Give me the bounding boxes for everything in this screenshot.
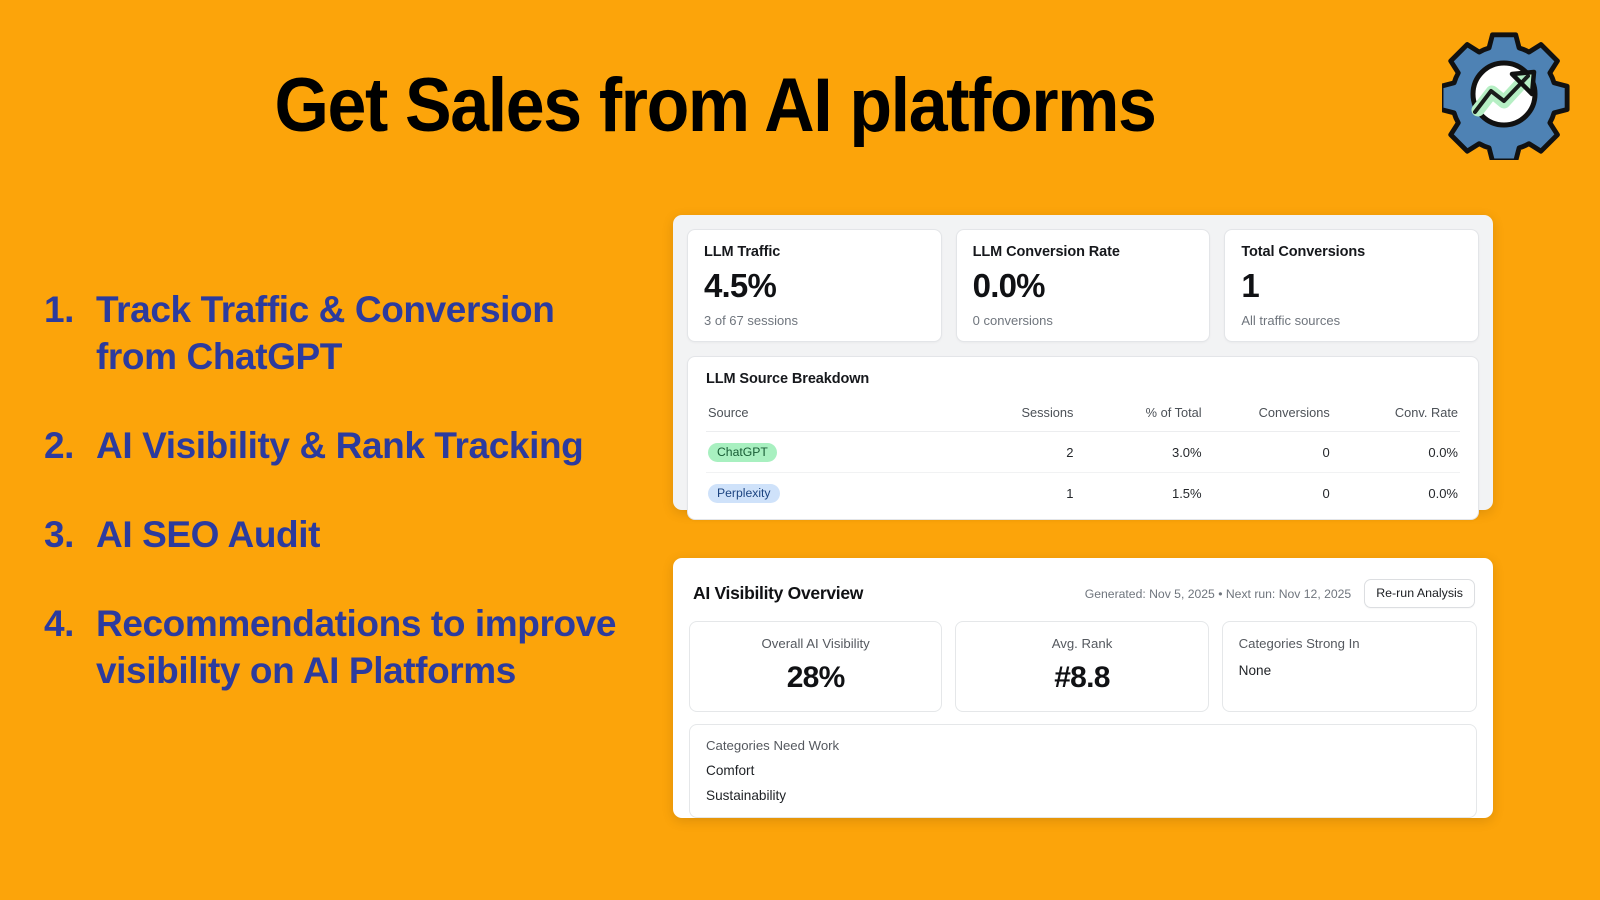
stat-card-label: LLM Conversion Rate [973,244,1194,260]
visibility-panel-header: AI Visibility Overview Generated: Nov 5,… [689,574,1477,608]
stat-card-value: 0.0% [973,267,1194,305]
visibility-card-label: Categories Strong In [1239,636,1462,651]
cell-conv-rate: 0.0% [1332,432,1460,473]
list-item-number: 1. [44,286,96,333]
llm-analytics-panel: LLM Traffic 4.5% 3 of 67 sessions LLM Co… [673,215,1493,510]
llm-source-table: Source Sessions % of Total Conversions C… [706,401,1460,513]
cell-conversions: 0 [1204,432,1332,473]
category-need-work-item: Comfort [706,763,1460,778]
visibility-card-row: Overall AI Visibility 28% Avg. Rank #8.8… [689,621,1477,712]
stat-card-llm-traffic: LLM Traffic 4.5% 3 of 67 sessions [687,229,942,342]
list-item-number: 4. [44,600,96,647]
cell-source: ChatGPT [706,432,947,473]
visibility-header-right: Generated: Nov 5, 2025 • Next run: Nov 1… [1085,579,1475,608]
visibility-card-categories-strong: Categories Strong In None [1222,621,1477,712]
stat-card-subtext: 3 of 67 sessions [704,313,925,328]
gear-growth-arrow-icon [1442,32,1570,160]
stat-card-label: Total Conversions [1241,244,1462,260]
column-header-source: Source [706,401,947,432]
list-item: 3. AI SEO Audit [44,511,644,558]
cell-conv-rate: 0.0% [1332,473,1460,514]
list-item: 2. AI Visibility & Rank Tracking [44,422,644,469]
column-header-conversions: Conversions [1204,401,1332,432]
stat-card-value: 4.5% [704,267,925,305]
table-header-row: Source Sessions % of Total Conversions C… [706,401,1460,432]
cell-sessions: 2 [947,432,1075,473]
cell-conversions: 0 [1204,473,1332,514]
visibility-panel-title: AI Visibility Overview [693,583,863,604]
table-row: Perplexity 1 1.5% 0 0.0% [706,473,1460,514]
visibility-card-avg-rank: Avg. Rank #8.8 [955,621,1208,712]
visibility-card-value: None [1239,663,1462,678]
column-header-sessions: Sessions [947,401,1075,432]
visibility-timestamp: Generated: Nov 5, 2025 • Next run: Nov 1… [1085,587,1351,601]
categories-need-work-card: Categories Need Work Comfort Sustainabil… [689,724,1477,818]
stat-card-llm-conversion-rate: LLM Conversion Rate 0.0% 0 conversions [956,229,1211,342]
table-row: ChatGPT 2 3.0% 0 0.0% [706,432,1460,473]
stat-card-total-conversions: Total Conversions 1 All traffic sources [1224,229,1479,342]
column-header-pct-of-total: % of Total [1075,401,1203,432]
feature-list: 1. Track Traffic & Conversion from ChatG… [44,286,644,736]
re-run-analysis-button[interactable]: Re-run Analysis [1364,579,1475,608]
list-item-number: 3. [44,511,96,558]
list-item-label: Track Traffic & Conversion from ChatGPT [96,286,644,380]
list-item-label: Recommendations to improve visibility on… [96,600,644,694]
stat-card-row: LLM Traffic 4.5% 3 of 67 sessions LLM Co… [687,229,1479,342]
visibility-card-overall: Overall AI Visibility 28% [689,621,942,712]
ai-visibility-panel: AI Visibility Overview Generated: Nov 5,… [673,558,1493,818]
column-header-conv-rate: Conv. Rate [1332,401,1460,432]
stat-card-subtext: All traffic sources [1241,313,1462,328]
category-need-work-item: Sustainability [706,788,1460,803]
visibility-card-label: Avg. Rank [970,636,1193,651]
list-item-label: AI Visibility & Rank Tracking [96,422,644,469]
llm-source-breakdown-card: LLM Source Breakdown Source Sessions % o… [687,356,1479,520]
page-title: Get Sales from AI platforms [57,62,1373,150]
stat-card-subtext: 0 conversions [973,313,1194,328]
status-badge-chatgpt: ChatGPT [708,443,777,462]
stat-card-value: 1 [1241,267,1462,305]
list-item-label: AI SEO Audit [96,511,644,558]
cell-source: Perplexity [706,473,947,514]
status-badge-perplexity: Perplexity [708,484,780,503]
list-item-number: 2. [44,422,96,469]
cell-pct-of-total: 3.0% [1075,432,1203,473]
list-item: 4. Recommendations to improve visibility… [44,600,644,694]
stat-card-label: LLM Traffic [704,244,925,260]
visibility-card-label: Overall AI Visibility [704,636,927,651]
list-item: 1. Track Traffic & Conversion from ChatG… [44,286,644,380]
visibility-card-value: 28% [704,661,927,695]
breakdown-title: LLM Source Breakdown [706,371,1460,387]
cell-sessions: 1 [947,473,1075,514]
visibility-card-value: #8.8 [970,661,1193,695]
categories-need-work-label: Categories Need Work [706,738,1460,753]
cell-pct-of-total: 1.5% [1075,473,1203,514]
